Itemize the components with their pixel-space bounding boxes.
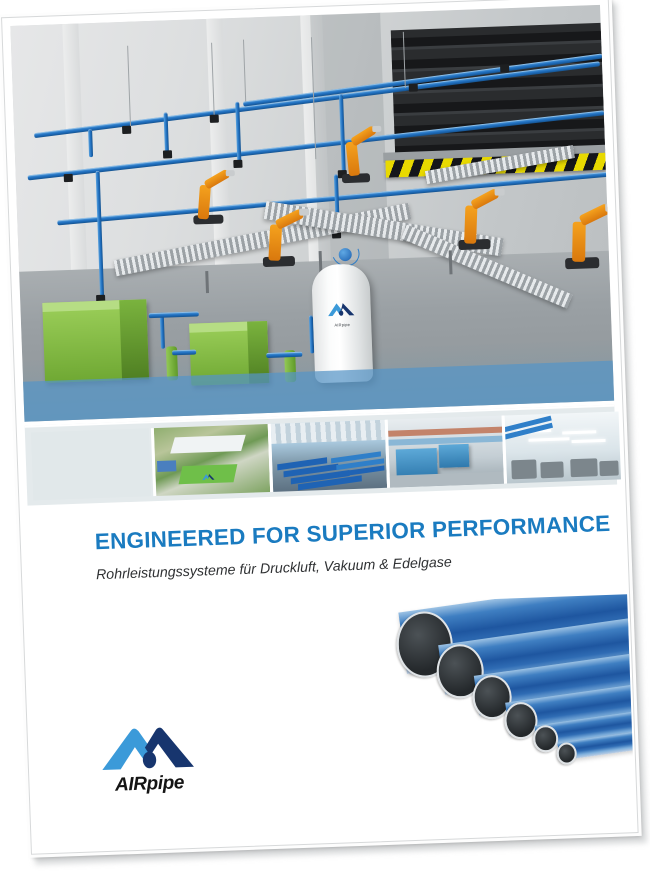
thumb-aerial-factory <box>151 424 273 496</box>
brochure-page-wrapper: AIRpipe <box>1 0 647 865</box>
compressor-unit <box>42 299 149 383</box>
pipe-opening <box>533 725 559 753</box>
screenshot-canvas: AIRpipe <box>0 0 650 876</box>
cover-content-area: ENGINEERED FOR SUPERIOR PERFORMANCE Rohr… <box>28 487 630 846</box>
louvered-wall <box>391 23 605 158</box>
logo-wordmark: AIRpipe <box>99 772 200 798</box>
tank-logo: AIRpipe <box>324 299 359 328</box>
logo-word-pipe: pipe <box>146 772 184 794</box>
brochure-cover-page: AIRpipe <box>1 0 639 855</box>
hero-image: AIRpipe <box>10 5 614 422</box>
thumbnail-blank-panel <box>31 428 151 500</box>
airpipe-peak-logo <box>97 720 199 776</box>
air-receiver-tank: AIRpipe <box>311 263 373 383</box>
airpipe-peak-logo <box>201 472 215 481</box>
pipe-opening <box>556 742 577 765</box>
thumb-production-hall <box>502 411 621 483</box>
product-photo-blue-pipes <box>367 594 634 793</box>
thumb-pipe-warehouse <box>268 420 390 492</box>
logo-word-air: AIR <box>115 774 147 796</box>
pipe-clamp <box>122 126 131 134</box>
pipe-clamp <box>233 160 242 168</box>
airpipe-peak-logo <box>326 299 357 319</box>
pipe-clamp <box>163 150 172 158</box>
pipe-clamp <box>210 115 219 123</box>
thumb-compressor-room <box>385 416 507 488</box>
page-subtitle: Rohrleistungssysteme für Druckluft, Vaku… <box>96 555 452 584</box>
page-title: ENGINEERED FOR SUPERIOR PERFORMANCE <box>94 511 610 555</box>
pipe-clamp <box>500 64 509 72</box>
pipe-clamp <box>64 174 73 182</box>
pipe-clamp <box>409 83 418 91</box>
airpipe-logo: AIRpipe <box>97 720 200 800</box>
